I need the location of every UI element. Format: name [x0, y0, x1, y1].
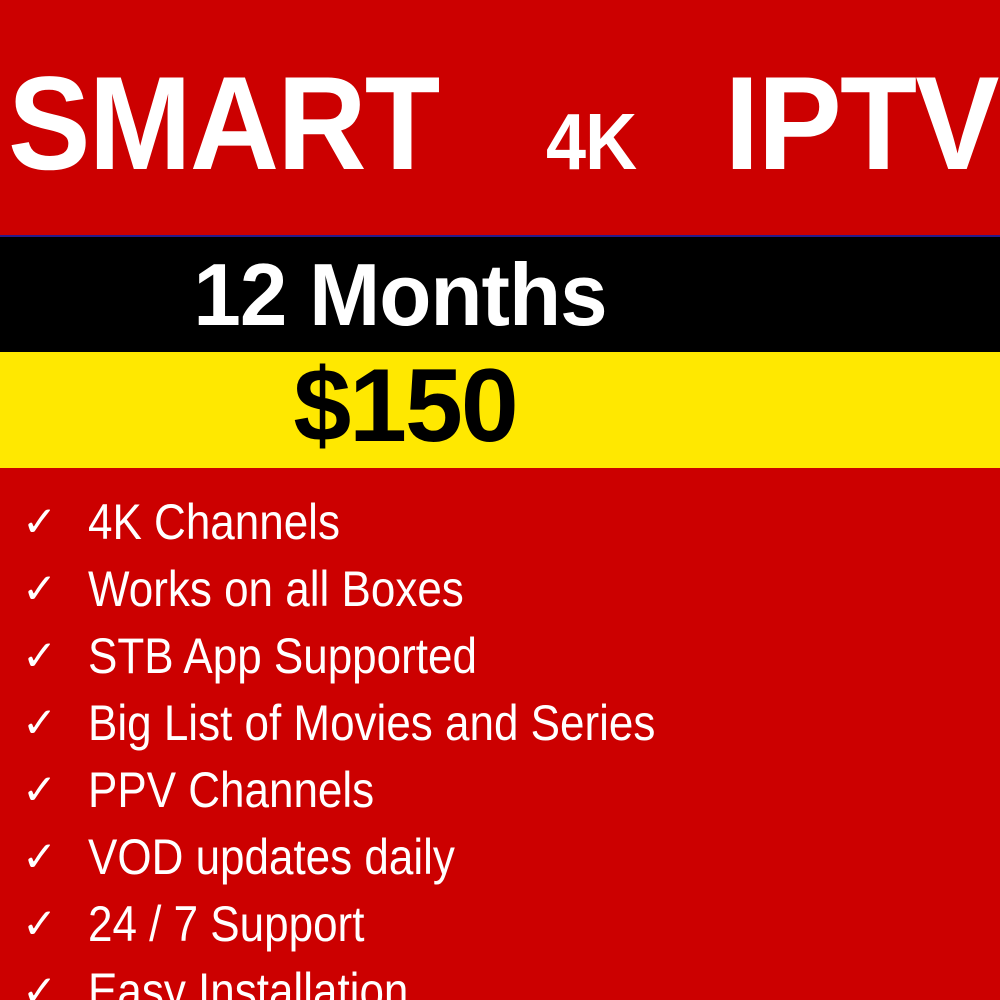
title-word-4k: 4K	[546, 102, 636, 182]
list-item: ✓ Easy Installation	[0, 957, 1000, 1000]
subscription-term-label: 12 Months	[12, 237, 788, 352]
price-label: $150	[0, 352, 810, 464]
check-icon: ✓	[0, 836, 88, 878]
list-item-label: 24 / 7 Support	[88, 899, 364, 949]
list-item: ✓ Big List of Movies and Series	[0, 689, 1000, 756]
check-icon: ✓	[0, 769, 88, 811]
iptv-promo-poster: SMART 4K IPTV 12 Months $150 ✓ 4K Channe…	[0, 0, 1000, 1000]
list-item-label: 4K Channels	[88, 497, 340, 547]
title-word-smart: SMART	[8, 58, 438, 191]
subscription-term-band: 12 Months	[0, 237, 1000, 352]
product-title: SMART 4K IPTV	[8, 58, 998, 188]
list-item-label: Works on all Boxes	[88, 564, 464, 614]
list-item: ✓ 4K Channels	[0, 488, 1000, 555]
check-icon: ✓	[0, 970, 88, 1000]
list-item: ✓ Works on all Boxes	[0, 555, 1000, 622]
check-icon: ✓	[0, 635, 88, 677]
list-item: ✓ VOD updates daily	[0, 823, 1000, 890]
check-icon: ✓	[0, 568, 88, 610]
list-item: ✓ 24 / 7 Support	[0, 890, 1000, 957]
list-item: ✓ PPV Channels	[0, 756, 1000, 823]
list-item-label: VOD updates daily	[88, 832, 455, 882]
list-item-label: Big List of Movies and Series	[88, 698, 655, 748]
title-word-iptv: IPTV	[725, 58, 998, 191]
check-icon: ✓	[0, 903, 88, 945]
check-icon: ✓	[0, 501, 88, 543]
check-icon: ✓	[0, 702, 88, 744]
price-band: $150	[0, 352, 1000, 468]
list-item-label: Easy Installation	[88, 966, 408, 1000]
feature-list: ✓ 4K Channels ✓ Works on all Boxes ✓ STB…	[0, 468, 1000, 1000]
list-item: ✓ STB App Supported	[0, 622, 1000, 689]
list-item-label: STB App Supported	[88, 631, 477, 681]
header-band: SMART 4K IPTV	[0, 0, 1000, 236]
list-item-label: PPV Channels	[88, 765, 374, 815]
